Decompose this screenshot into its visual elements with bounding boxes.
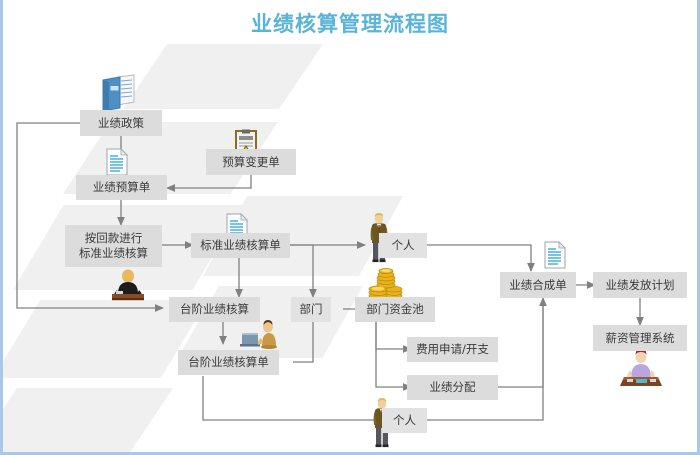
node-department-label[interactable]: 部门 [291,297,331,322]
node-standard-accounting-form[interactable]: 标准业绩核算单 [191,233,290,258]
node-performance-budget-form[interactable]: 业绩预算单 [76,175,167,200]
node-expense-application[interactable]: 费用申请/开支 [407,337,498,362]
edge-stepform-to-dept [293,322,313,362]
edge-change-to-budget [167,175,251,188]
node-performance-composite-form[interactable]: 业绩合成单 [500,272,576,298]
node-budget-change-form[interactable]: 预算变更单 [206,149,296,175]
edge-pool-to-expense [376,322,411,349]
document-icon [542,240,568,270]
node-payroll-system[interactable]: 薪资管理系统 [593,325,687,351]
document-icon [104,147,130,177]
edge-stdform-to-dept [290,245,313,297]
node-individual-top[interactable]: 个人 [379,233,427,258]
edge-pool-to-allocation [376,322,411,387]
node-individual-bottom[interactable]: 个人 [382,408,427,433]
node-performance-policy[interactable]: 业绩政策 [80,110,162,136]
node-performance-allocation[interactable]: 业绩分配 [407,375,498,400]
node-department-fund-pool[interactable]: 部门资金池 [355,297,435,322]
node-step-accounting-form[interactable]: 台阶业绩核算单 [178,350,279,375]
node-standard-accounting[interactable]: 按回款进行 标准业绩核算 [65,225,162,267]
node-performance-payout-plan[interactable]: 业绩发放计划 [593,272,687,298]
edge-stepform-to-individual-bottom [203,376,384,420]
flowchart-canvas: 业绩核算管理流程图 [0,0,700,455]
gold-coins-icon [366,266,408,300]
blue-book-icon [98,72,140,112]
person-computer-icon [239,320,281,350]
edge-allocation-to-composite [496,298,543,387]
page-title: 业绩核算管理流程图 [3,8,697,38]
person-at-desk-icon [108,268,148,302]
person-desk-purple-icon [618,348,664,388]
node-step-accounting[interactable]: 台阶业绩核算 [169,297,260,322]
edge-individual-to-composite [427,245,531,271]
